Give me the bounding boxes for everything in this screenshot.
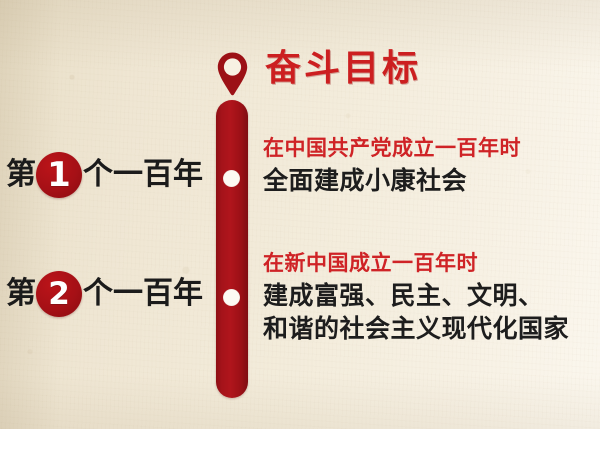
milestone-suffix-1: 个一百年 (83, 160, 203, 190)
milestone-body-2-line-1: 建成富强、民主、文明、 (263, 279, 569, 312)
milestone-content-1: 在中国共产党成立一百年时 全面建成小康社会 (263, 135, 521, 197)
milestone-number-2: 2 (48, 279, 70, 310)
timeline-marker-1 (223, 170, 240, 187)
poster-canvas: 第 1 个一百年 第 2 个一百年 奋斗目标 在中国共产党成立一百年时 全面建成… (0, 0, 600, 450)
milestone-content-2: 在新中国成立一百年时 建成富强、民主、文明、 和谐的社会主义现代化国家 (263, 250, 569, 345)
milestone-suffix-2: 个一百年 (83, 279, 203, 309)
milestone-label-1: 第 1 个一百年 (6, 152, 203, 198)
milestone-number-1: 1 (47, 158, 71, 192)
milestone-body-2-line-2: 和谐的社会主义现代化国家 (263, 312, 569, 345)
timeline-bar (216, 100, 248, 398)
bottom-white-band (0, 429, 600, 450)
milestone-badge-2: 2 (36, 271, 82, 317)
milestone-prefix-2: 第 (6, 279, 36, 309)
milestone-label-2: 第 2 个一百年 (6, 271, 203, 317)
milestone-badge-1: 1 (36, 152, 82, 198)
milestone-body-2: 建成富强、民主、文明、 和谐的社会主义现代化国家 (263, 279, 569, 345)
map-pin-icon (216, 51, 249, 97)
milestone-prefix-1: 第 (6, 160, 36, 190)
poster-title: 奋斗目标 (265, 50, 421, 88)
milestone-body-1-line-1: 全面建成小康社会 (263, 164, 521, 197)
timeline-marker-2 (223, 289, 240, 306)
milestone-body-1: 全面建成小康社会 (263, 164, 521, 197)
milestone-heading-2: 在新中国成立一百年时 (263, 250, 569, 276)
milestone-heading-1: 在中国共产党成立一百年时 (263, 135, 521, 161)
